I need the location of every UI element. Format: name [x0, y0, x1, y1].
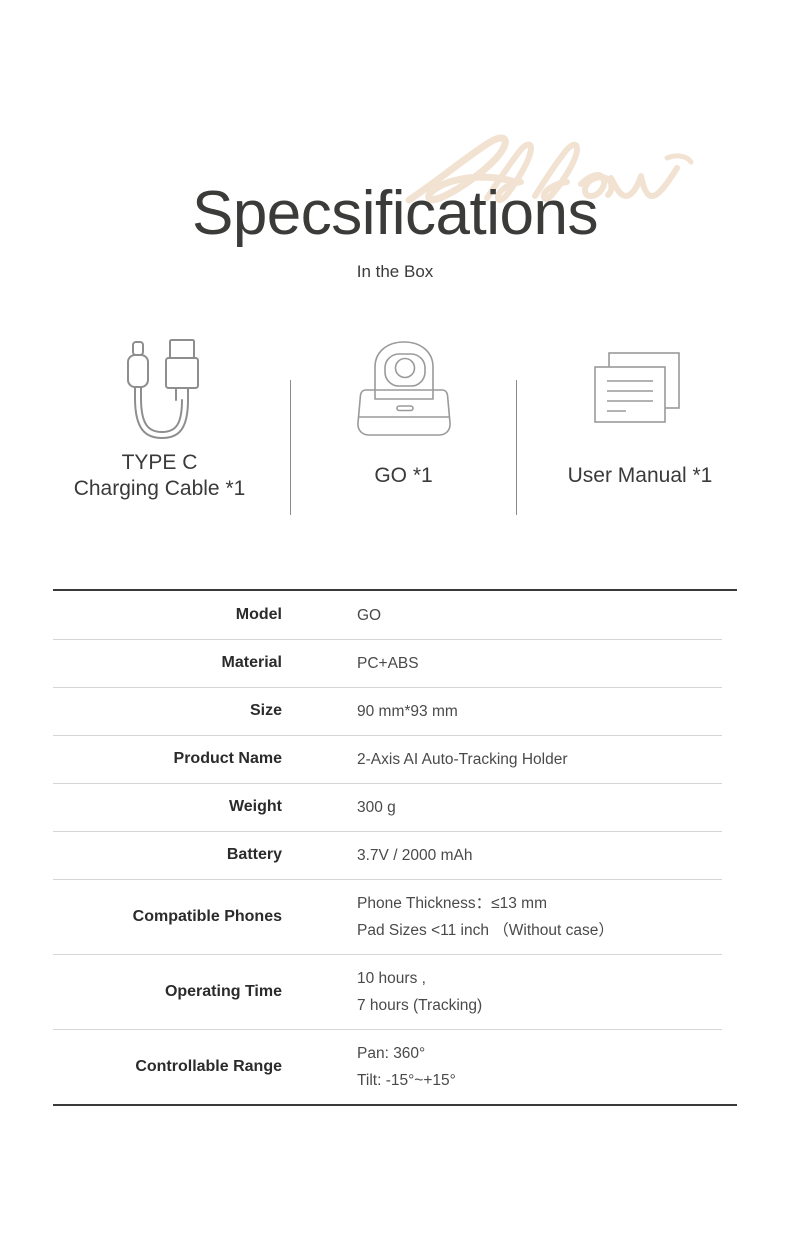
user-manual-pages-icon	[520, 330, 760, 450]
table-row: Material PC+ABS	[53, 639, 737, 687]
spec-key: Weight	[53, 796, 282, 818]
column-divider-2	[516, 380, 517, 515]
spec-key: Size	[53, 700, 282, 722]
spec-value: GO	[282, 602, 737, 629]
page-subtitle: In the Box	[0, 261, 790, 283]
spec-key: Product Name	[53, 748, 282, 770]
spec-value: 10 hours , 7 hours (Tracking)	[282, 965, 737, 1019]
usb-c-charging-cable-icon	[22, 330, 297, 450]
spec-value: 2-Axis AI Auto-Tracking Holder	[282, 746, 737, 773]
spec-value: Pan: 360° Tilt: -15°~+15°	[282, 1040, 737, 1094]
box-item-label: TYPE C Charging Cable *1	[22, 450, 297, 502]
spec-key: Material	[53, 652, 282, 674]
page-title: Specsifications	[0, 178, 790, 250]
table-bottom-rule	[53, 1104, 737, 1106]
spec-value: 90 mm*93 mm	[282, 698, 737, 725]
box-item-charging-cable: TYPE C Charging Cable *1	[22, 330, 297, 530]
box-item-label: User Manual *1	[520, 450, 760, 489]
table-row: Operating Time 10 hours , 7 hours (Track…	[53, 954, 737, 1029]
spec-key: Battery	[53, 844, 282, 866]
spec-value: PC+ABS	[282, 650, 737, 677]
box-item-user-manual: User Manual *1	[520, 330, 760, 530]
box-item-go-device: GO *1	[300, 330, 507, 530]
box-item-label: GO *1	[300, 450, 507, 489]
spec-value: 3.7V / 2000 mAh	[282, 842, 737, 869]
page-header: Specsifications In the Box	[0, 0, 790, 310]
table-row: Model GO	[53, 591, 737, 639]
table-row: Size 90 mm*93 mm	[53, 687, 737, 735]
table-row: Battery 3.7V / 2000 mAh	[53, 831, 737, 879]
table-row: Compatible Phones Phone Thickness：≤13 mm…	[53, 879, 737, 954]
table-row: Product Name 2-Axis AI Auto-Tracking Hol…	[53, 735, 737, 783]
spec-value: 300 g	[282, 794, 737, 821]
specifications-table: Model GO Material PC+ABS Size 90 mm*93 m…	[53, 589, 737, 1106]
in-the-box-section: TYPE C Charging Cable *1	[0, 330, 790, 530]
spec-value: Phone Thickness：≤13 mm Pad Sizes <11 inc…	[282, 890, 737, 944]
spec-key: Operating Time	[53, 981, 282, 1003]
spec-key: Model	[53, 604, 282, 626]
table-row: Weight 300 g	[53, 783, 737, 831]
table-row: Controllable Range Pan: 360° Tilt: -15°~…	[53, 1029, 737, 1104]
spec-key: Controllable Range	[53, 1056, 282, 1078]
spec-key: Compatible Phones	[53, 906, 282, 928]
go-tracking-holder-icon	[300, 330, 507, 450]
